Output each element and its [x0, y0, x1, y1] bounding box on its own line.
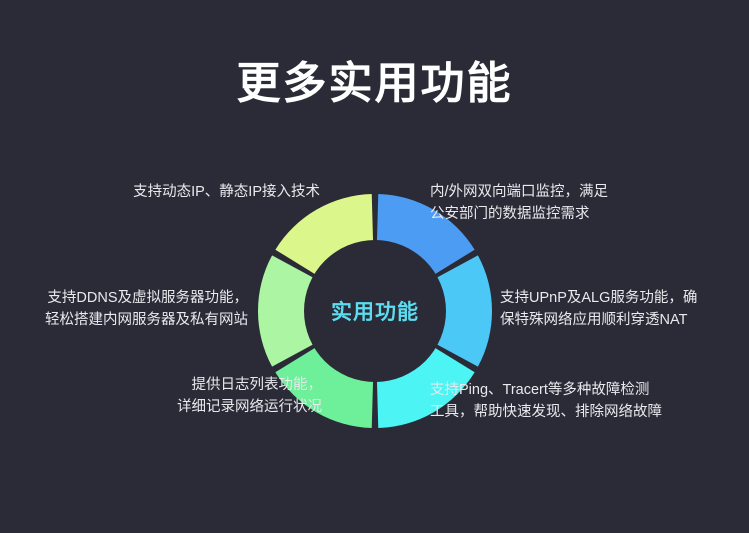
page-title: 更多实用功能: [0, 60, 749, 108]
feature-label-dynamic-ip: 支持动态IP、静态IP接入技术: [0, 181, 320, 203]
donut-center-label: 实用功能: [331, 296, 419, 326]
donut-center-hub: 实用功能: [304, 240, 446, 382]
feature-label-port-monitor: 内/外网双向端口监控，满足 公安部门的数据监控需求: [430, 181, 730, 225]
feature-label-log: 提供日志列表功能， 详细记录网络运行状况: [0, 374, 322, 418]
feature-label-ddns: 支持DDNS及虚拟服务器功能， 轻松搭建内网服务器及私有网站: [0, 287, 248, 331]
feature-label-ping: 支持Ping、Tracert等多种故障检测 工具，帮助快速发现、排除网络故障: [430, 379, 749, 423]
feature-label-upnp: 支持UPnP及ALG服务功能，确 保特殊网络应用顺利穿透NAT: [500, 287, 749, 331]
